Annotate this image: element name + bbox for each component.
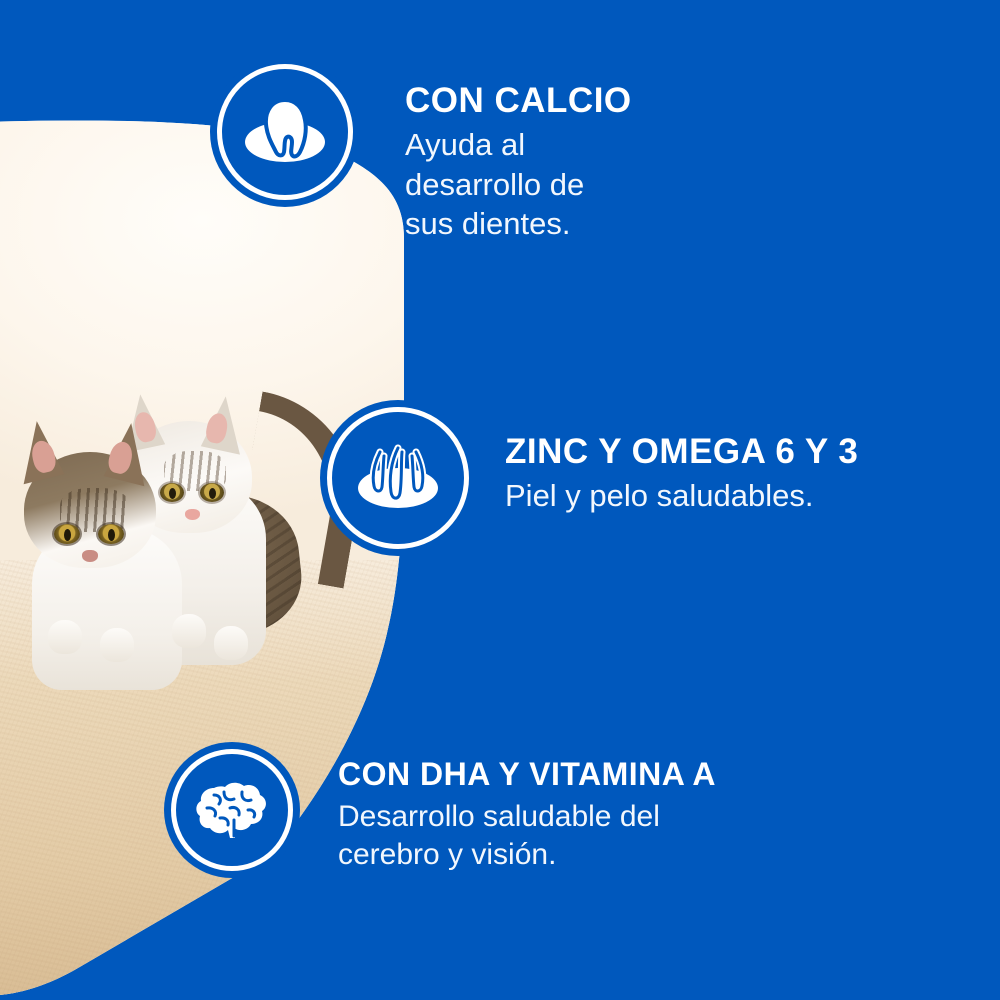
benefits-banner: CON CALCIO Ayuda al desarrollo de sus di…: [0, 0, 1000, 1000]
kitten-ear-left: [10, 418, 65, 484]
feature-icon-badge: [164, 742, 300, 878]
feature-subtitle-line-1: Desarrollo saludable del: [338, 798, 716, 836]
feature-title: CON CALCIO: [405, 82, 632, 119]
feature-text-block: CON CALCIO Ayuda al desarrollo de sus di…: [405, 82, 632, 244]
feature-title: ZINC Y OMEGA 6 Y 3: [505, 433, 858, 470]
feature-text-block: CON DHA Y VITAMINA A Desarrollo saludabl…: [338, 758, 716, 875]
kitten-eye-left: [54, 524, 80, 544]
brain-icon: [190, 768, 274, 852]
feature-subtitle: Piel y pelo saludables.: [505, 476, 858, 516]
feature-title: CON DHA Y VITAMINA A: [338, 758, 716, 792]
hair-follicle-icon: [350, 430, 446, 526]
kitten-nose: [82, 550, 98, 562]
feature-subtitle-line-2: cerebro y visión.: [338, 836, 716, 874]
kitten-paw: [48, 620, 82, 654]
feature-icon-badge: [210, 57, 360, 207]
kitten-paw: [100, 628, 134, 662]
kitten-eye-right: [98, 524, 124, 544]
kitten-paw: [214, 626, 248, 660]
feature-text-block: ZINC Y OMEGA 6 Y 3 Piel y pelo saludable…: [505, 433, 858, 516]
kitten-paw: [172, 614, 206, 648]
kitten-ear-right: [104, 420, 159, 486]
feature-icon-badge: [320, 400, 476, 556]
feature-subtitle: Ayuda al desarrollo de sus dientes.: [405, 125, 632, 244]
tooth-icon: [239, 86, 331, 178]
